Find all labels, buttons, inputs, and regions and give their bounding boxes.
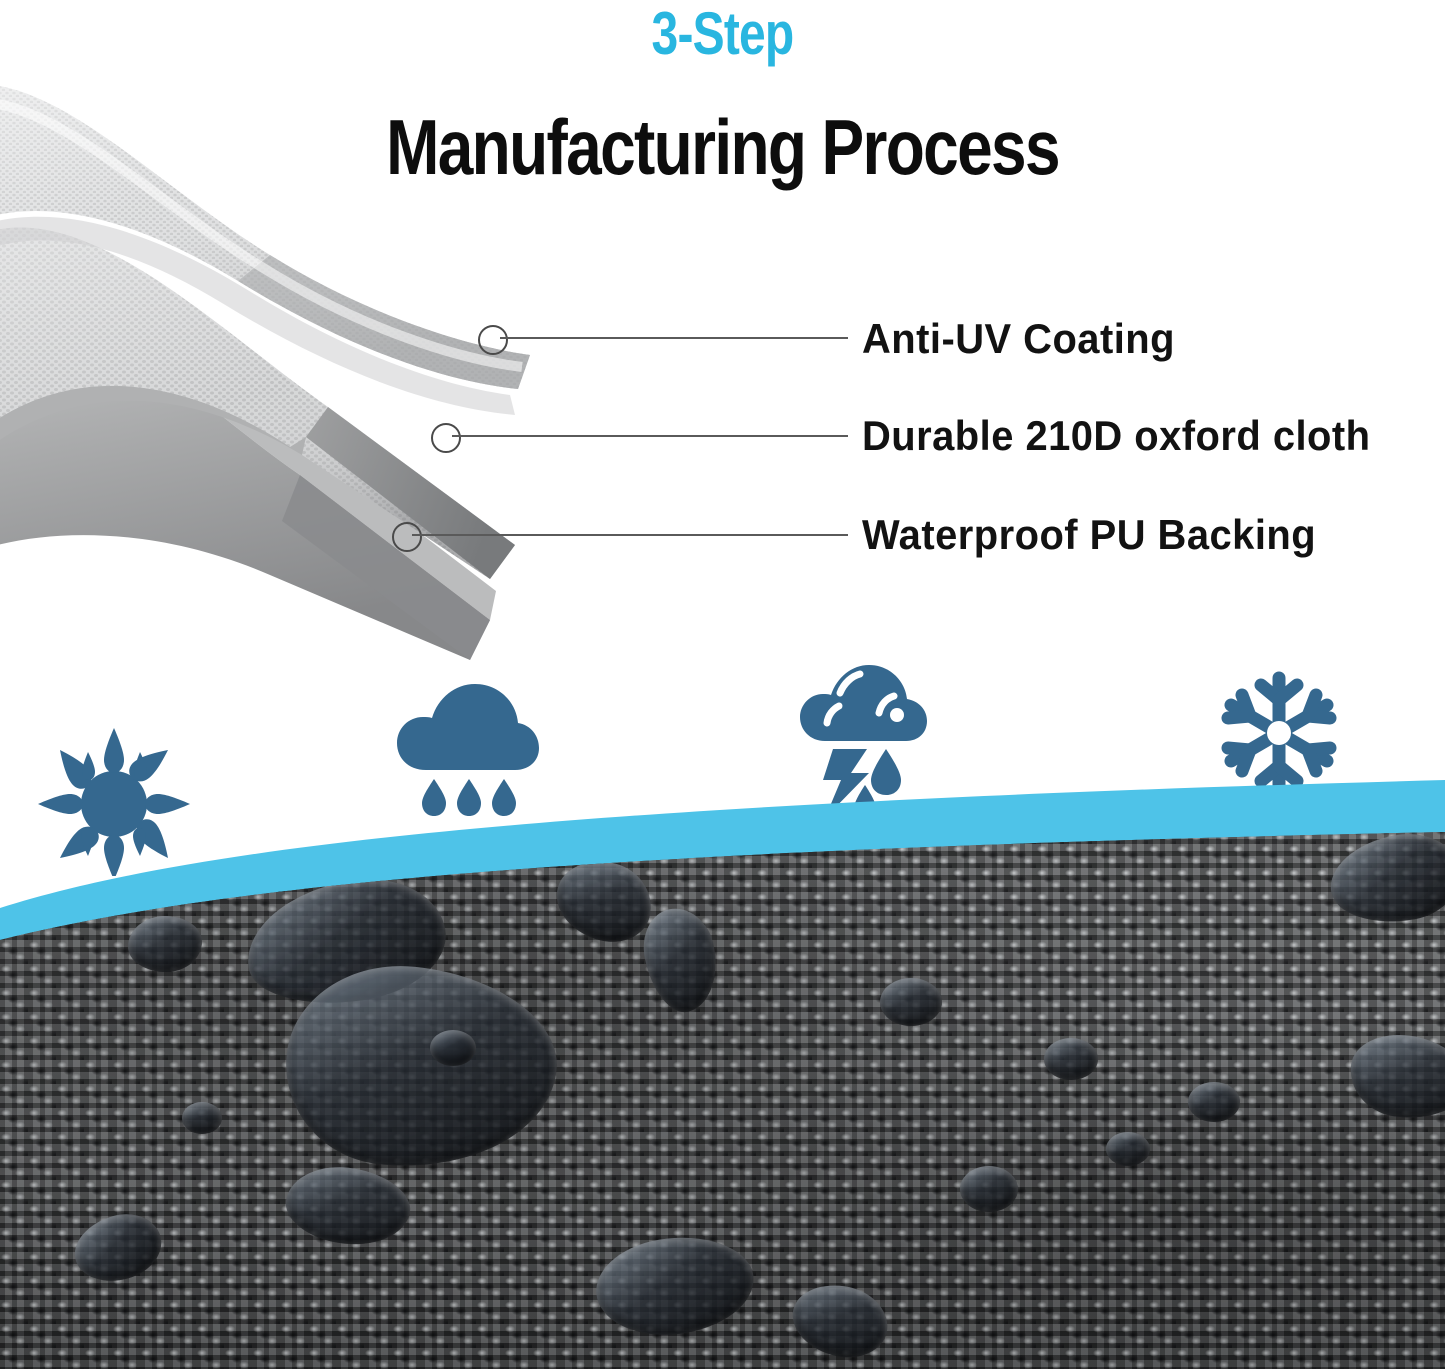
- fabric-photo: [0, 820, 1445, 1369]
- spec-label-anti-uv-coating: Anti-UV Coating: [862, 315, 1175, 363]
- water-bead: [1106, 1132, 1150, 1166]
- water-bead: [960, 1166, 1018, 1212]
- callout-line-3: [412, 534, 848, 536]
- snowflake-icon: [1214, 668, 1344, 798]
- water-bead: [182, 1102, 222, 1134]
- water-bead: [1188, 1082, 1240, 1122]
- thunderstorm-icon: [797, 663, 932, 818]
- eyebrow-heading: 3-Step: [145, 2, 1301, 65]
- page-title: Manufacturing Process: [130, 108, 1315, 188]
- callout-line-2: [452, 435, 848, 437]
- water-bead: [430, 1030, 476, 1066]
- callout-dot-1: [478, 325, 508, 355]
- water-bead: [880, 978, 942, 1026]
- spec-label-oxford-cloth: Durable 210D oxford cloth: [862, 412, 1371, 460]
- callout-line-1: [500, 337, 848, 339]
- spec-label-pu-backing: Waterproof PU Backing: [862, 511, 1316, 559]
- callout-dot-3: [392, 522, 422, 552]
- water-bead: [1044, 1038, 1098, 1080]
- infographic-canvas: Anti-UV Coating Durable 210D oxford clot…: [0, 0, 1445, 1369]
- rain-cloud-icon: [393, 676, 543, 816]
- callout-dot-2: [431, 423, 461, 453]
